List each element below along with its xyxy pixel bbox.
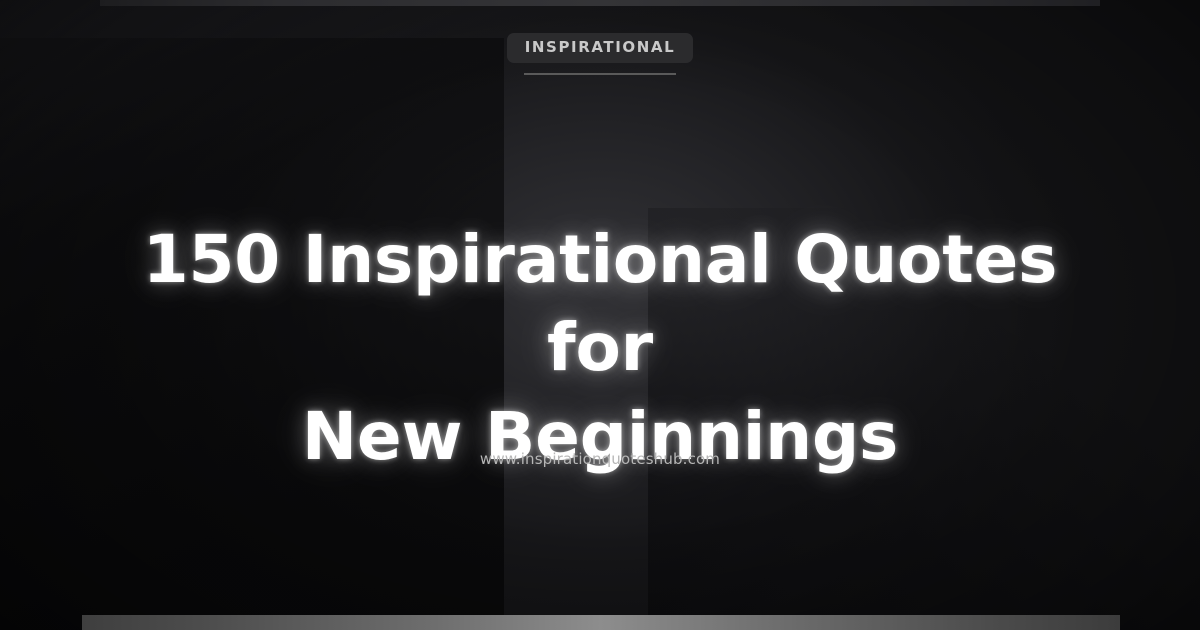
badge-underline-divider: [524, 73, 676, 75]
page-title: 150 Inspirational Quotes for New Beginni…: [80, 216, 1120, 481]
page-title-line-1: 150 Inspirational Quotes for: [143, 221, 1057, 386]
category-badge: INSPIRATIONAL: [507, 33, 694, 63]
site-url-label: www.inspirationquoteshub.com: [0, 450, 1200, 468]
category-badge-group: INSPIRATIONAL: [507, 33, 694, 75]
quote-banner: INSPIRATIONAL 150 Inspirational Quotes f…: [0, 0, 1200, 630]
banner-content: INSPIRATIONAL 150 Inspirational Quotes f…: [0, 0, 1200, 630]
